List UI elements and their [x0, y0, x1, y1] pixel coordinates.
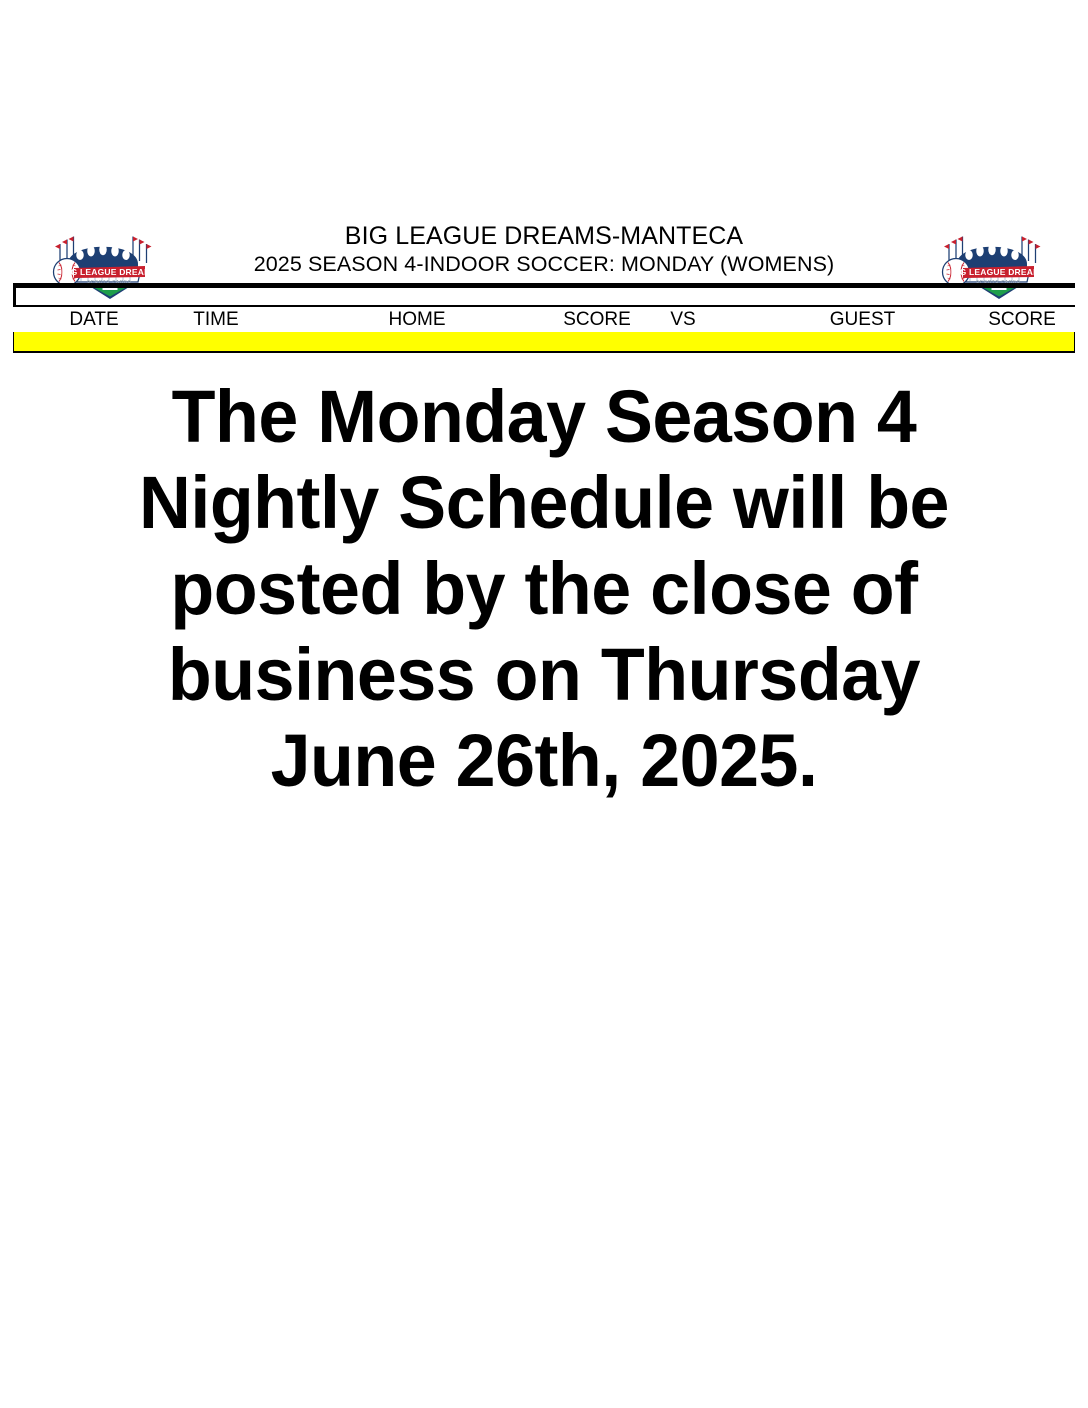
announcement-message: The Monday Season 4 Nightly Schedule wil… — [127, 374, 961, 804]
big-league-dreams-logo-right: BIG LEAGUE DREAMS SPORTS PARKS — [934, 226, 1050, 300]
column-header-home: HOME — [277, 307, 557, 332]
page-subtitle: 2025 SEASON 4-INDOOR SOCCER: MONDAY (WOM… — [175, 251, 913, 277]
stadium-logo-icon: BIG LEAGUE DREAMS SPORTS PARKS — [45, 226, 161, 300]
page-title: BIG LEAGUE DREAMS-MANTECA — [175, 222, 913, 251]
document-header: BIG LEAGUE DREAMS-MANTECA 2025 SEASON 4-… — [0, 222, 1088, 284]
header-title-block: BIG LEAGUE DREAMS-MANTECA 2025 SEASON 4-… — [175, 222, 913, 277]
column-header-date: DATE — [33, 307, 155, 332]
stadium-logo-icon: BIG LEAGUE DREAMS SPORTS PARKS — [934, 226, 1050, 300]
svg-text:BIG LEAGUE DREAMS: BIG LEAGUE DREAMS — [951, 267, 1047, 277]
table-header-row: DATE TIME HOME SCORE VS GUEST SCORE — [13, 305, 1075, 334]
column-header-guest: GUEST — [755, 307, 970, 332]
table-top-rule — [13, 283, 1075, 288]
highlight-row — [14, 332, 1074, 353]
column-header-guest-score: SCORE — [973, 307, 1071, 332]
big-league-dreams-logo-left: BIG LEAGUE DREAMS SPORTS PARKS — [45, 226, 161, 300]
column-header-time: TIME — [155, 307, 277, 332]
document-page: BIG LEAGUE DREAMS-MANTECA 2025 SEASON 4-… — [0, 0, 1088, 1408]
column-header-home-score: SCORE — [557, 307, 637, 332]
column-header-vs: VS — [643, 307, 723, 332]
svg-text:BIG LEAGUE DREAMS: BIG LEAGUE DREAMS — [62, 267, 158, 277]
